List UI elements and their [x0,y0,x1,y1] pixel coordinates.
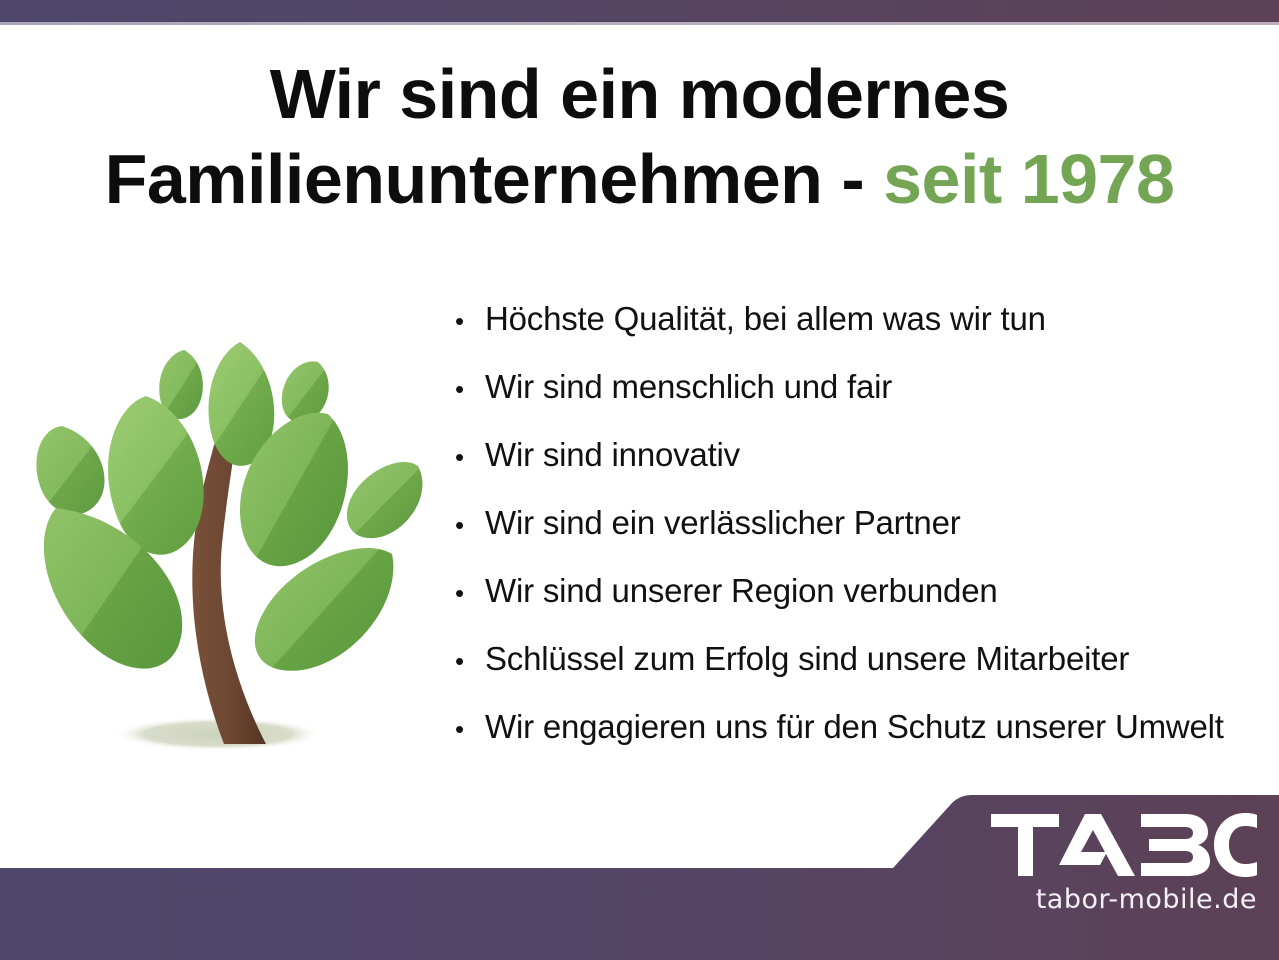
bullet-icon: • [455,716,485,742]
tree-leaf-right-lower [255,548,393,671]
page-title-line-2: Familienunternehmen - seit 1978 [0,137,1279,222]
brand-url[interactable]: tabor-mobile.de [957,884,1257,915]
list-item-label: Schlüssel zum Erfolg sind unsere Mitarbe… [485,640,1265,678]
tree-leaf-far-left [36,426,104,515]
list-item-label: Wir sind ein verlässlicher Partner [485,504,1265,542]
top-accent-bar [0,0,1279,22]
list-item-label: Höchste Qualität, bei allem was wir tun [485,300,1265,338]
list-item: • Wir sind ein verlässlicher Partner [455,504,1265,572]
bullet-icon: • [455,444,485,470]
tabor-wordmark-icon [989,812,1257,878]
bullet-icon: • [455,308,485,334]
slide-canvas: Wir sind ein modernes Familienunternehme… [0,0,1279,960]
top-accent-underline [0,22,1279,25]
bullet-icon: • [455,648,485,674]
bullet-icon: • [455,580,485,606]
brand-logo[interactable]: tabor-mobile.de [957,812,1257,915]
list-item: • Schlüssel zum Erfolg sind unsere Mitar… [455,640,1265,708]
tree-leaf-far-right [347,462,423,538]
value-proposition-list: • Höchste Qualität, bei allem was wir tu… [455,300,1265,776]
page-title: Wir sind ein modernes Familienunternehme… [0,52,1279,223]
tree-leaf-left-upper [108,396,204,555]
list-item-label: Wir engagieren uns für den Schutz unsere… [485,708,1265,746]
list-item-label: Wir sind menschlich und fair [485,368,1265,406]
bullet-icon: • [455,512,485,538]
list-item: • Wir engagieren uns für den Schutz unse… [455,708,1265,776]
list-item-label: Wir sind innovativ [485,436,1265,474]
list-item-label: Wir sind unserer Region verbunden [485,572,1265,610]
list-item: • Wir sind unserer Region verbunden [455,572,1265,640]
page-title-line-2-prefix: Familienunternehmen - [105,140,884,218]
page-title-accent: seit 1978 [883,140,1174,218]
list-item: • Höchste Qualität, bei allem was wir tu… [455,300,1265,368]
list-item: • Wir sind innovativ [455,436,1265,504]
tree-logo [18,330,448,770]
list-item: • Wir sind menschlich und fair [455,368,1265,436]
bullet-icon: • [455,376,485,402]
page-title-line-1: Wir sind ein modernes [0,52,1279,137]
